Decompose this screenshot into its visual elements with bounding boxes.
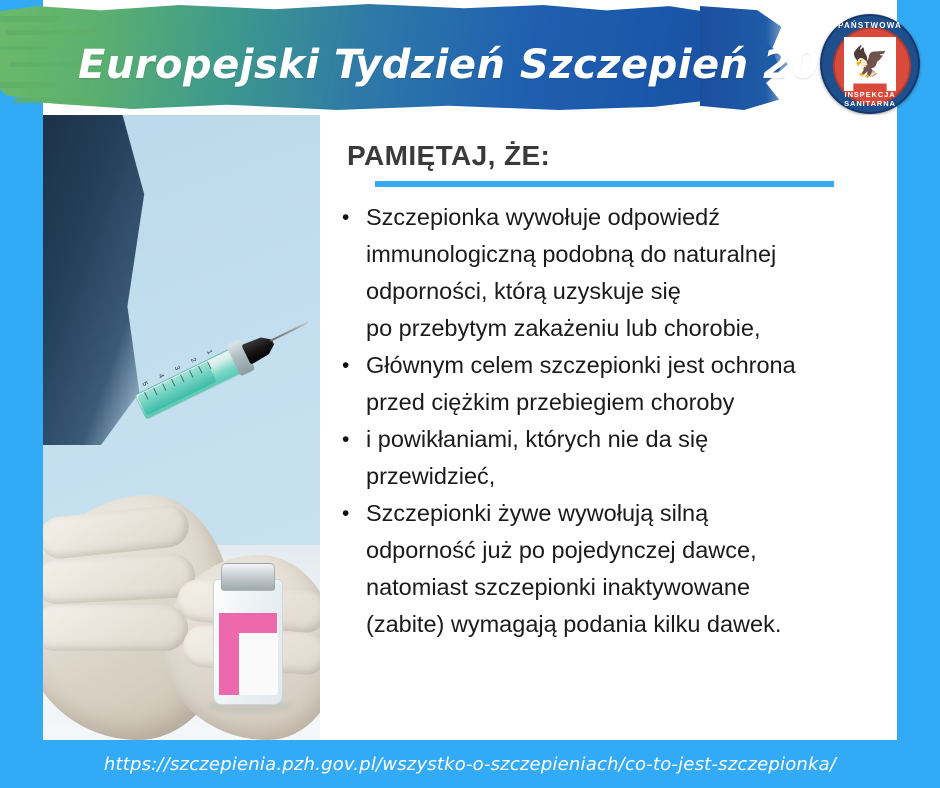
list-item: • i powikłaniami, których nie da się prz… xyxy=(342,421,877,495)
poster: Europejski Tydzień Szczepień 2021 🦅 PAŃS… xyxy=(0,0,940,788)
brush-fragment xyxy=(10,62,82,67)
header-band: Europejski Tydzień Szczepień 2021 xyxy=(0,0,940,117)
vaccine-vial xyxy=(213,563,281,703)
brush-fragment xyxy=(0,46,48,50)
brush-fragment xyxy=(0,16,60,22)
bullet-marker-icon: • xyxy=(342,199,366,347)
list-item: • Głównym celem szczepionki jest ochrona… xyxy=(342,347,877,421)
bullet-marker-icon: • xyxy=(342,347,366,421)
logo-text-top: PAŃSTWOWA xyxy=(820,21,920,30)
list-item: • Szczepionka wywołuje odpowiedź immunol… xyxy=(342,199,877,347)
list-item-text: i powikłaniami, których nie da się przew… xyxy=(366,421,877,495)
list-item-text: Szczepionka wywołuje odpowiedź immunolog… xyxy=(366,199,877,347)
brush-fragment xyxy=(14,98,100,103)
bullet-marker-icon: • xyxy=(342,495,366,643)
glove-finger xyxy=(43,605,188,651)
panstwowa-inspekcja-sanitarna-logo: 🦅 PAŃSTWOWA INSPEKCJA SANITARNA xyxy=(820,14,920,114)
bullet-marker-icon: • xyxy=(342,421,366,495)
poster-title: Europejski Tydzień Szczepień 2021 xyxy=(78,36,778,96)
glove-finger xyxy=(43,553,196,605)
list-item-text: Głównym celem szczepionki jest ochrona p… xyxy=(366,347,877,421)
vial-label-stripe-horizontal xyxy=(219,613,277,633)
brush-fragment xyxy=(0,82,58,88)
heading-underline-rule xyxy=(375,181,834,187)
brush-fragment xyxy=(6,30,102,35)
syringe-scale-label: 3 xyxy=(173,365,181,372)
list-item-text: Szczepionki żywe wywołują silną odpornoś… xyxy=(366,495,877,643)
syringe-scale-label: 5 xyxy=(140,381,148,388)
bullet-list: • Szczepionka wywołuje odpowiedź immunol… xyxy=(342,199,877,643)
footer-bar: https://szczepienia.pzh.gov.pl/wszystko-… xyxy=(0,740,940,788)
vial-metal-cap xyxy=(221,563,275,591)
syringe-scale-label: 1 xyxy=(205,349,213,356)
vaccination-photo: 5 4 3 2 1 xyxy=(43,115,320,740)
source-url[interactable]: https://szczepienia.pzh.gov.pl/wszystko-… xyxy=(104,754,836,775)
list-item: • Szczepionki żywe wywołują silną odporn… xyxy=(342,495,877,643)
syringe-scale-label: 2 xyxy=(189,357,197,364)
section-heading: PAMIĘTAJ, ŻE: xyxy=(347,140,550,172)
syringe-scale-label: 4 xyxy=(157,373,165,380)
logo-text-bottom: INSPEKCJA SANITARNA xyxy=(820,90,920,108)
polish-eagle-icon: 🦅 xyxy=(844,40,896,86)
text-column: PAMIĘTAJ, ŻE: • Szczepionka wywołuje odp… xyxy=(320,115,897,740)
